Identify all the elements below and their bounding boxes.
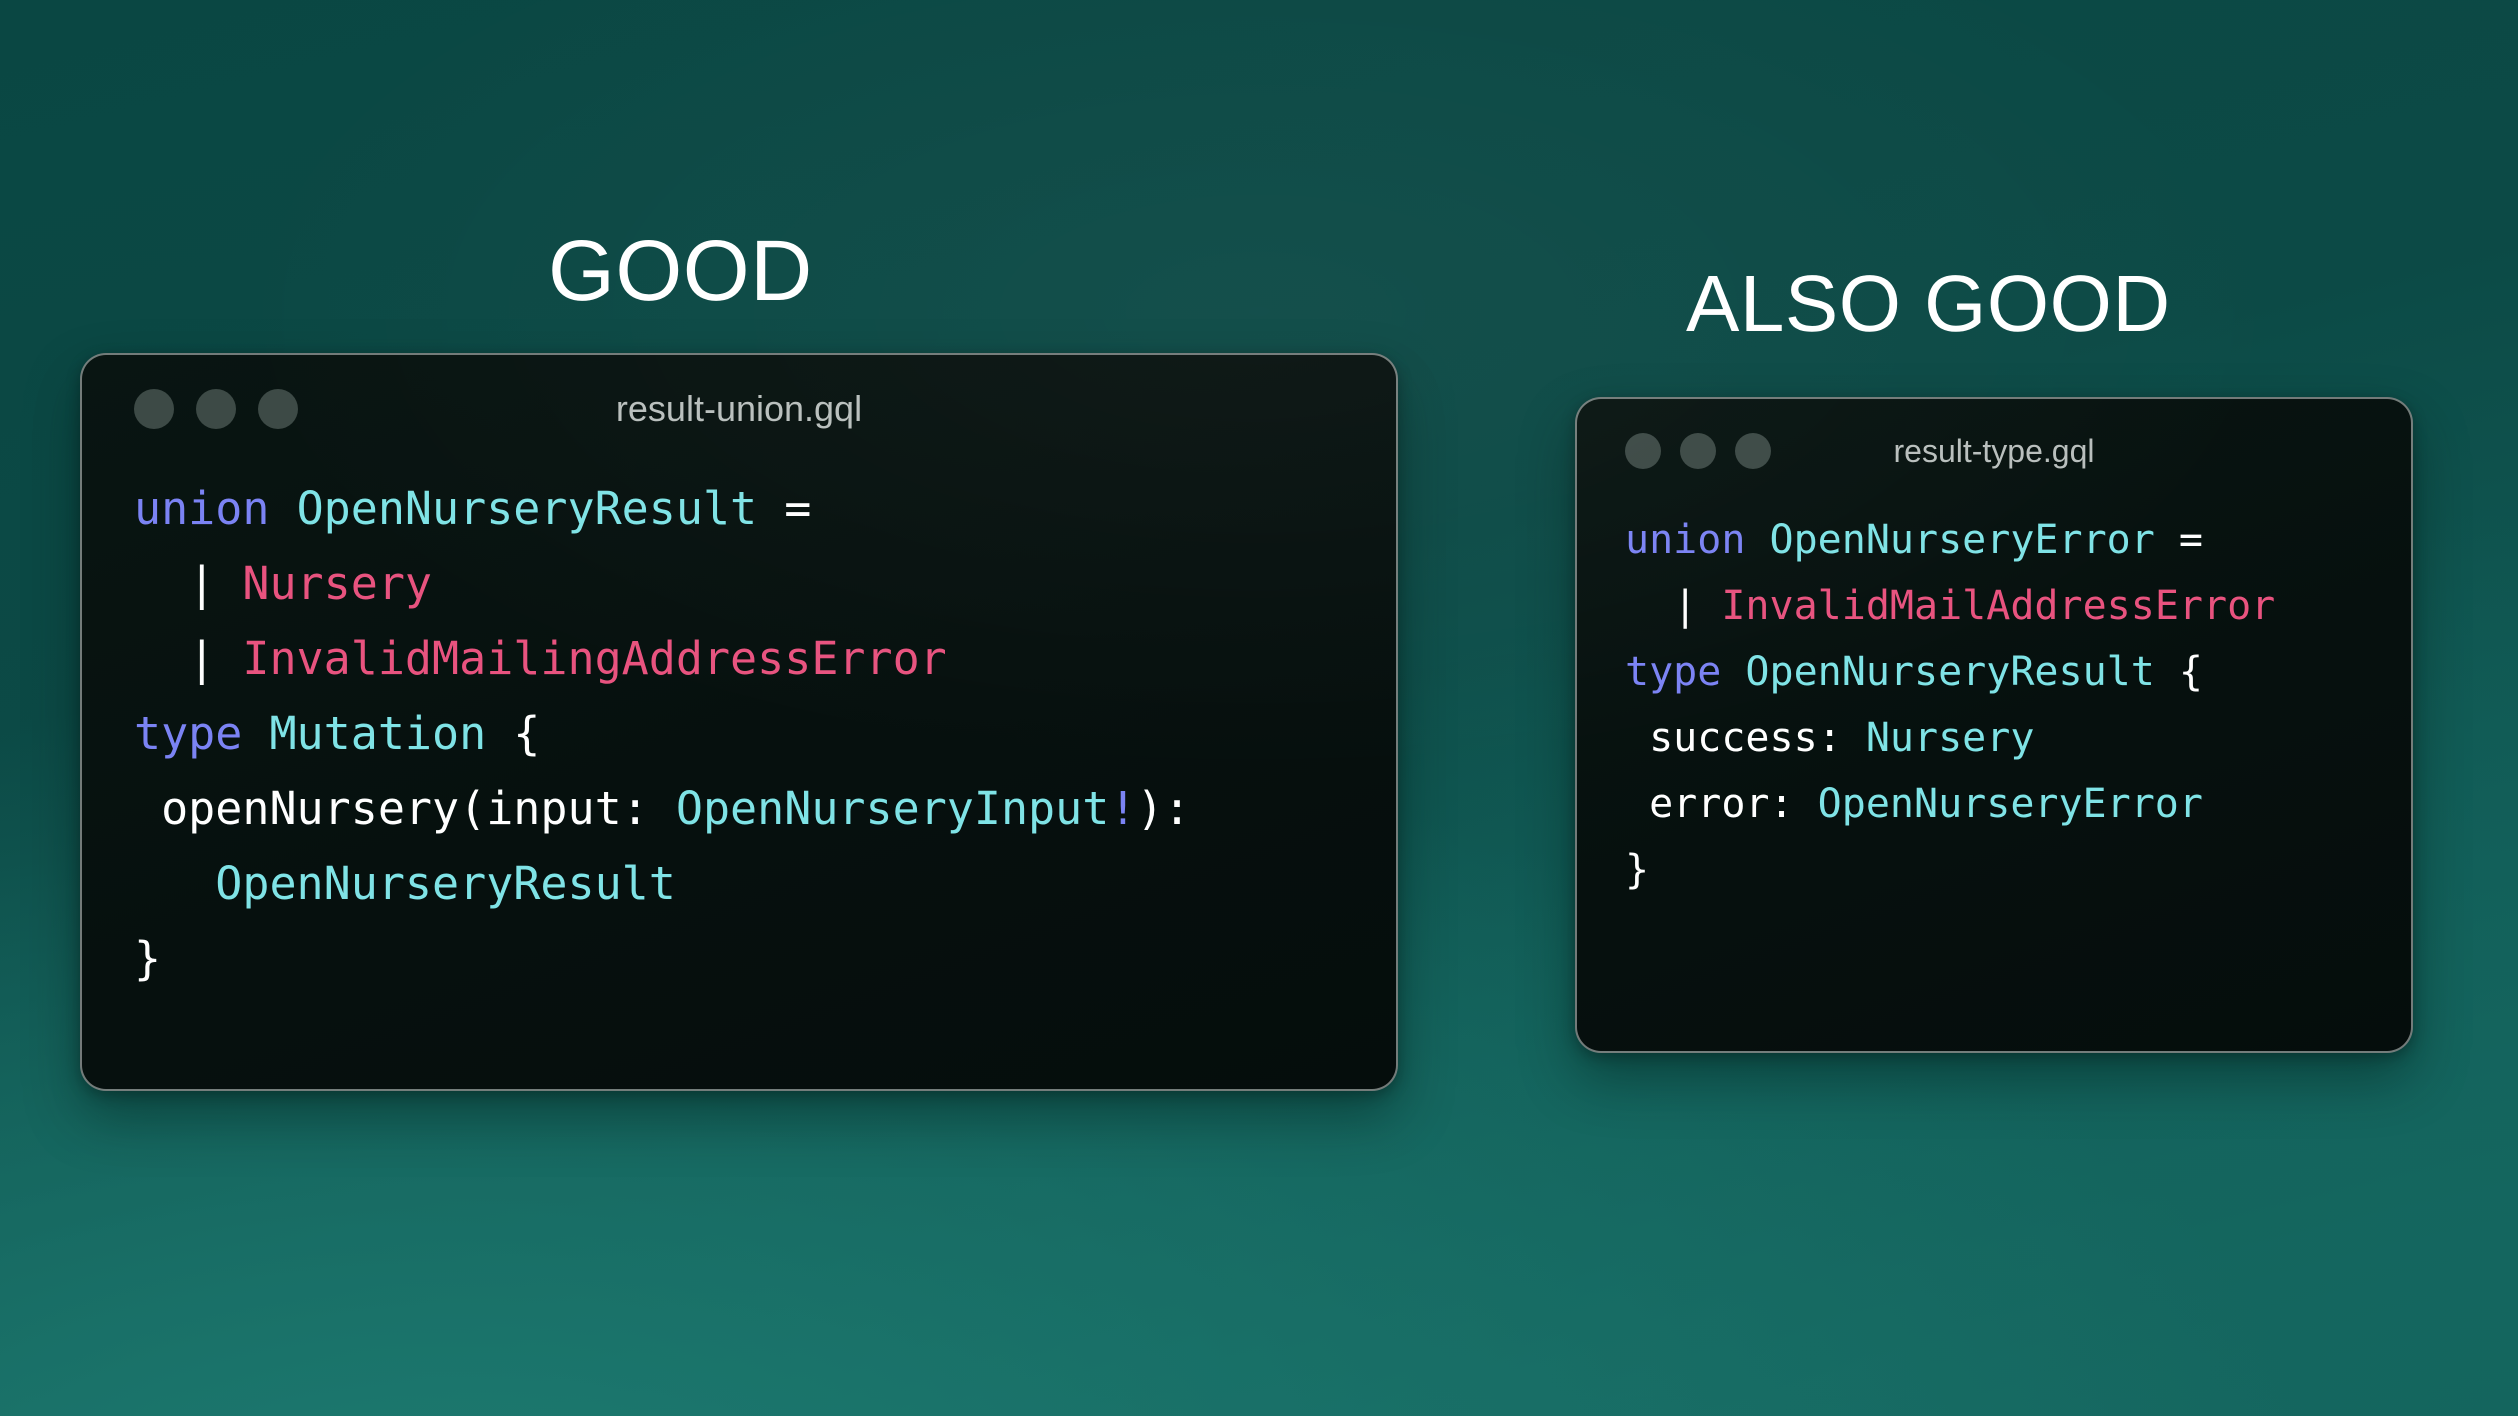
code-block: union OpenNurseryResult = | Nursery | In… <box>82 463 1396 996</box>
code-token-type: OpenNurseryResult <box>297 482 758 535</box>
code-token-punct <box>134 632 188 685</box>
code-line: | InvalidMailingAddressError <box>134 621 1396 696</box>
code-token-type: OpenNurseryError <box>1818 781 2203 827</box>
window-controls <box>1625 433 1771 469</box>
code-line: openNursery(input: OpenNurseryInput!): <box>134 771 1396 846</box>
close-dot-icon[interactable] <box>134 389 174 429</box>
code-line: type OpenNurseryResult { <box>1625 639 2411 705</box>
code-token-punct <box>1721 649 1745 695</box>
maximize-dot-icon[interactable] <box>1735 433 1771 469</box>
code-token-kw: type <box>134 707 242 760</box>
slide-canvas: GOOD result-union.gql union OpenNurseryR… <box>0 0 2518 1416</box>
code-token-kw: union <box>1625 517 1745 563</box>
code-line: | Nursery <box>134 546 1396 621</box>
code-token-punct: { <box>2155 649 2203 695</box>
code-line: | InvalidMailAddressError <box>1625 573 2411 639</box>
code-line: union OpenNurseryError = <box>1625 507 2411 573</box>
code-token-type: OpenNurseryResult <box>215 857 676 910</box>
close-dot-icon[interactable] <box>1625 433 1661 469</box>
code-line: } <box>134 921 1396 996</box>
code-line: type Mutation { <box>134 696 1396 771</box>
code-token-field: success: <box>1625 715 1866 761</box>
code-token-pipe: | <box>188 557 242 610</box>
code-token-type: OpenNurseryResult <box>1745 649 2154 695</box>
code-token-field: openNursery(input: <box>134 782 676 835</box>
code-line: error: OpenNurseryError <box>1625 771 2411 837</box>
code-token-err: InvalidMailingAddressError <box>242 632 946 685</box>
card-titlebar: result-union.gql <box>82 355 1396 463</box>
code-token-type: OpenNurseryError <box>1770 517 2155 563</box>
minimize-dot-icon[interactable] <box>1680 433 1716 469</box>
code-token-punct: = <box>757 482 838 535</box>
code-token-punct <box>134 857 215 910</box>
code-token-punct: { <box>486 707 540 760</box>
code-token-err: InvalidMailAddressError <box>1721 583 2275 629</box>
card-titlebar: result-type.gql <box>1577 399 2411 503</box>
minimize-dot-icon[interactable] <box>196 389 236 429</box>
heading-also-good: ALSO GOOD <box>1686 264 2171 344</box>
heading-good: GOOD <box>548 228 813 314</box>
code-token-pipe: | <box>1673 583 1721 629</box>
code-token-punct: = <box>2155 517 2227 563</box>
code-token-punct: } <box>1625 847 1649 893</box>
code-token-err: Nursery <box>242 557 432 610</box>
code-token-punct <box>242 707 269 760</box>
code-line: } <box>1625 837 2411 903</box>
code-token-punct <box>134 557 188 610</box>
code-token-punct: ): <box>1136 782 1190 835</box>
code-token-punct: } <box>134 932 161 985</box>
code-line: success: Nursery <box>1625 705 2411 771</box>
maximize-dot-icon[interactable] <box>258 389 298 429</box>
code-token-bang: ! <box>1109 782 1136 835</box>
code-card-also-good: result-type.gql union OpenNurseryError =… <box>1575 397 2413 1053</box>
code-token-pipe: | <box>188 632 242 685</box>
code-card-good: result-union.gql union OpenNurseryResult… <box>80 353 1398 1091</box>
code-line: union OpenNurseryResult = <box>134 471 1396 546</box>
code-token-punct <box>269 482 296 535</box>
code-block: union OpenNurseryError = | InvalidMailAd… <box>1577 503 2411 903</box>
code-token-type: Nursery <box>1866 715 2035 761</box>
code-token-punct <box>1745 517 1769 563</box>
code-line: OpenNurseryResult <box>134 846 1396 921</box>
window-controls <box>134 389 298 429</box>
code-token-type: OpenNurseryInput <box>676 782 1109 835</box>
code-token-kw: union <box>134 482 269 535</box>
code-token-field: error: <box>1625 781 1818 827</box>
code-token-type: Mutation <box>269 707 486 760</box>
code-token-kw: type <box>1625 649 1721 695</box>
code-token-punct <box>1625 583 1673 629</box>
